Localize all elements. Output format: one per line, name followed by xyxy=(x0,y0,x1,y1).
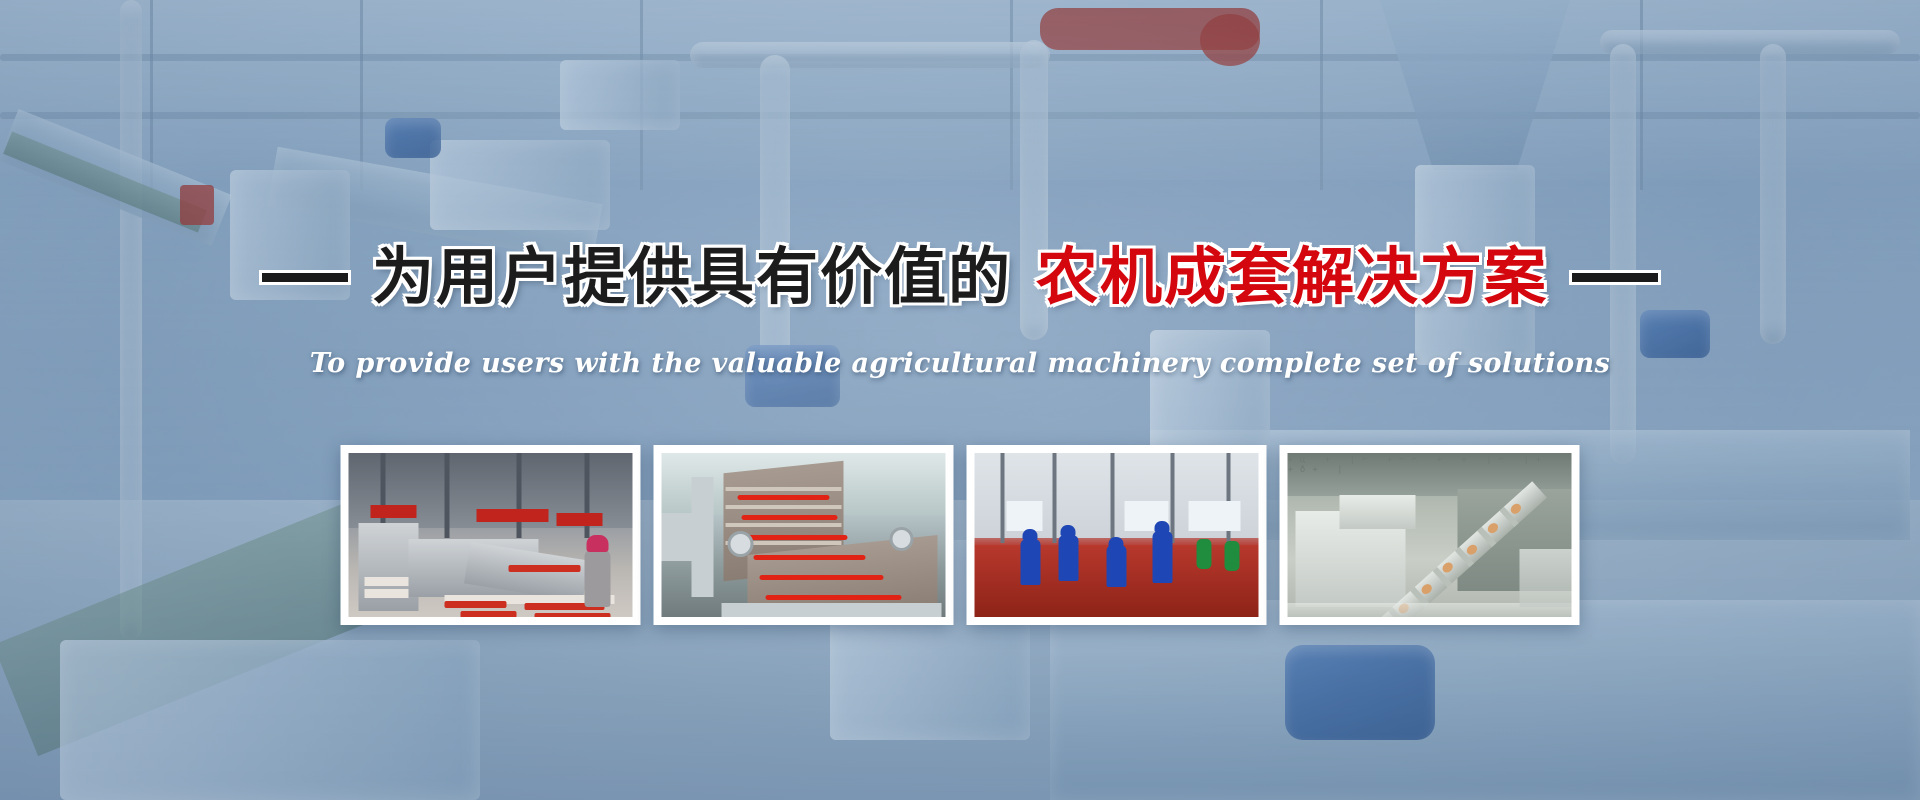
worker-hat xyxy=(587,535,609,552)
thumbnail-2[interactable] xyxy=(654,445,954,625)
belt-frame xyxy=(722,603,942,617)
berry-row xyxy=(535,613,611,617)
thumbnail-3-image xyxy=(975,453,1259,617)
berry-row xyxy=(742,515,838,520)
roof-markings: +ц + |⌐ +⌐⌐ + + |⌐ |+ +ð+ | xyxy=(1288,455,1572,467)
steel-column xyxy=(517,453,522,538)
steel-column xyxy=(445,453,450,538)
worker-green xyxy=(1225,541,1240,571)
left-dash-icon xyxy=(262,273,348,282)
thumbnail-1[interactable] xyxy=(341,445,641,625)
headline-red-text: 农机成套解决方案 xyxy=(1036,246,1548,308)
worker xyxy=(1059,535,1079,581)
worker-cap xyxy=(1109,537,1124,548)
berry-row xyxy=(760,575,884,580)
collection-bin xyxy=(1520,549,1572,607)
haze-overlay xyxy=(0,0,1920,800)
thumbnail-2-image xyxy=(662,453,946,617)
subtitle: To provide users with the valuable agric… xyxy=(0,348,1920,379)
worker-green xyxy=(1197,539,1212,569)
belt-slat xyxy=(726,523,842,527)
thumbnail-4-image: +ц + |⌐ +⌐⌐ + + |⌐ |+ +ð+ | xyxy=(1288,453,1572,617)
headline: 为用户提供具有价值的 农机成套解决方案 xyxy=(262,246,1658,308)
worker-cap xyxy=(1023,529,1038,540)
steel-column xyxy=(1111,453,1115,543)
steel-column xyxy=(1053,453,1057,543)
window xyxy=(1189,501,1241,531)
machine-top xyxy=(1340,495,1416,529)
berry-row xyxy=(738,495,830,500)
worker xyxy=(1153,531,1173,583)
belt-slat xyxy=(726,505,842,509)
right-dash-icon xyxy=(1572,273,1658,282)
worker xyxy=(1107,545,1127,587)
drive-roller xyxy=(890,527,914,551)
berry-row xyxy=(461,611,517,617)
drive-roller xyxy=(728,531,754,557)
worker-cap xyxy=(1061,525,1076,536)
red-banner xyxy=(477,509,549,522)
steel-column xyxy=(1001,453,1005,543)
steel-column xyxy=(1171,453,1175,543)
drying-tray xyxy=(365,589,409,598)
red-banner xyxy=(371,505,417,518)
berry-row xyxy=(445,601,507,608)
window xyxy=(1007,501,1043,531)
drying-tray xyxy=(365,577,409,586)
worker xyxy=(1021,539,1041,585)
worker xyxy=(585,549,611,607)
berry-row xyxy=(748,535,848,540)
headline-dark-text: 为用户提供具有价值的 xyxy=(372,246,1012,308)
red-banner xyxy=(557,513,603,526)
thumbnail-4[interactable]: +ц + |⌐ +⌐⌐ + + |⌐ |+ +ð+ | xyxy=(1280,445,1580,625)
berry-row xyxy=(509,565,581,572)
berry-row xyxy=(754,555,866,560)
duct xyxy=(662,513,702,561)
thumbnail-3[interactable] xyxy=(967,445,1267,625)
background-photo xyxy=(0,0,1920,800)
hero-banner: 为用户提供具有价值的 农机成套解决方案 To provide users wit… xyxy=(0,0,1920,800)
thumbnail-strip: +ц + |⌐ +⌐⌐ + + |⌐ |+ +ð+ | xyxy=(341,445,1580,625)
thumbnail-1-image xyxy=(349,453,633,617)
belt-slat xyxy=(726,487,842,491)
headline-container: 为用户提供具有价值的 农机成套解决方案 xyxy=(0,246,1920,308)
berry-row xyxy=(766,595,902,600)
worker-cap xyxy=(1155,521,1170,532)
